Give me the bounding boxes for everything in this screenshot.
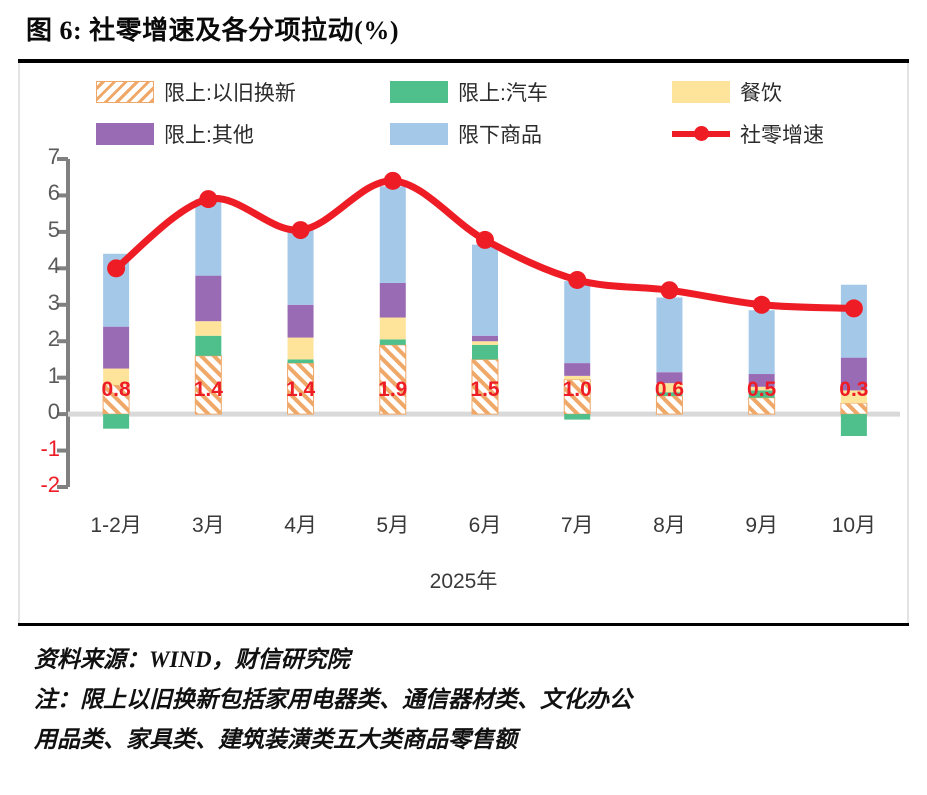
y-axis-tick-3: 3 [20, 290, 60, 316]
bar-value-label: 0.8 [86, 378, 146, 402]
y-axis-tick-1: 1 [20, 363, 60, 389]
x-axis-tick-label: 1-2月 [71, 509, 161, 539]
x-axis-tick-label: 10月 [809, 509, 899, 539]
y-axis-tick-7: 7 [20, 144, 60, 170]
title-block: 图 6: 社零增速及各分项拉动(%) [18, 0, 909, 53]
source-note: 资料来源：WIND，财信研究院 [18, 640, 909, 680]
bar-value-label: 0.6 [639, 378, 699, 402]
chart-frame: 限上:以旧换新 限上:汽车 餐饮 限上:其他 限下商品 社零增速 [18, 63, 909, 623]
y-axis-tick-4: 4 [20, 253, 60, 279]
figure-page: 图 6: 社零增速及各分项拉动(%) 限上:以旧换新 限上:汽车 餐饮 限上:其… [0, 0, 927, 795]
note-line-2: 用品类、家具类、建筑装潢类五大类商品零售额 [18, 720, 909, 760]
x-axis-tick-label: 4月 [256, 509, 346, 539]
bar-value-label: 1.0 [547, 378, 607, 402]
x-axis-tick-label: 5月 [348, 509, 438, 539]
note-line-1: 注：限上以旧换新包括家用电器类、通信器材类、文化办公 [18, 680, 909, 720]
x-axis-tick-label: 7月 [532, 509, 622, 539]
plot-area: -2-1012345670.81.41.41.91.51.00.60.50.31… [20, 63, 907, 623]
x-axis-tick-label: 3月 [163, 509, 253, 539]
bar-value-label: 1.4 [178, 378, 238, 402]
bar-value-label: 0.3 [824, 378, 884, 402]
y-axis-tick--1: -1 [20, 436, 60, 462]
x-axis-tick-label: 9月 [717, 509, 807, 539]
y-axis-tick-2: 2 [20, 326, 60, 352]
bar-value-label: 1.4 [271, 378, 331, 402]
x-axis-tick-label: 6月 [440, 509, 530, 539]
y-axis-tick-0: 0 [20, 399, 60, 425]
figure-title: 图 6: 社零增速及各分项拉动(%) [26, 10, 903, 47]
bar-value-label: 1.9 [363, 378, 423, 402]
bar-value-label: 1.5 [455, 378, 515, 402]
y-axis-tick-5: 5 [20, 217, 60, 243]
bar-value-label: 0.5 [732, 378, 792, 402]
y-axis-tick--2: -2 [20, 472, 60, 498]
chart-canvas [20, 63, 911, 623]
footer-divider [18, 623, 909, 626]
y-axis-tick-6: 6 [20, 180, 60, 206]
x-axis-title: 2025年 [20, 565, 907, 595]
x-axis-tick-label: 8月 [624, 509, 714, 539]
